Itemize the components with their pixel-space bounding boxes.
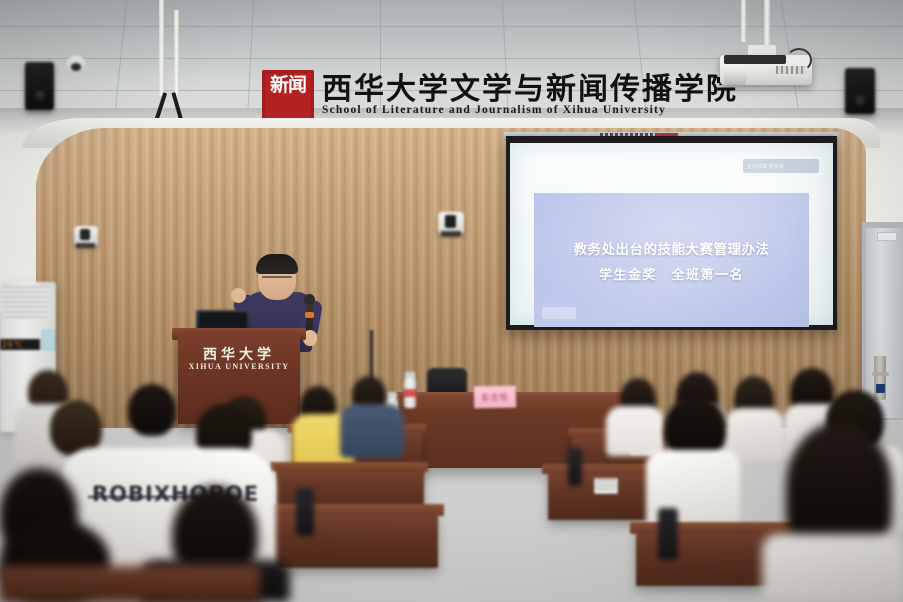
audience-torso-r1-8 — [726, 408, 784, 460]
podium-english-label: XIHUA UNIVERSITY — [178, 362, 300, 371]
name-card: 彭志恒 — [474, 386, 516, 409]
audience-head-r1-2 — [128, 384, 176, 436]
projector-mount-pole-secondary — [741, 0, 746, 42]
presenter-hair — [256, 254, 298, 274]
wall-speaker-right — [845, 68, 875, 114]
projector-cable — [786, 48, 812, 72]
ceiling-hanger-pole-2 — [174, 10, 179, 98]
microphone-head — [304, 294, 315, 305]
signage-chinese-title: 西华大学文学与新闻传播学院 — [322, 64, 672, 108]
seal-glyphs: 新闻 — [265, 73, 311, 95]
ac-display-value: 26℃ — [0, 340, 24, 349]
chair-back-row3-b — [658, 508, 678, 560]
presenter-glasses — [262, 276, 292, 285]
projector-top-mount — [724, 55, 786, 64]
water-bottle-1 — [404, 378, 416, 408]
podium-chinese-label: 西华大学 — [178, 344, 300, 364]
audience-torso-r1-5 — [340, 404, 404, 458]
wall-ptz-camera-icon — [438, 212, 464, 234]
chair-back-row3-a — [296, 488, 314, 536]
presenter-raised-fist — [231, 288, 246, 303]
seal-icon: 新闻 — [262, 70, 314, 122]
name-card-text: 彭志恒 — [481, 391, 508, 402]
slide-chip-label: 正在共享 麦克风 — [747, 163, 784, 170]
wall-speaker-left — [25, 62, 54, 110]
foreground-torso-right — [762, 534, 903, 602]
projector-lens — [724, 72, 746, 85]
wall-camera-left-icon — [74, 226, 98, 246]
door-sign-plate — [877, 232, 897, 241]
lecture-hall-photo: 新闻 西华大学文学与新闻传播学院 School of Literature an… — [0, 0, 903, 602]
seat-label-3 — [594, 478, 618, 494]
ac-vents — [2, 286, 50, 320]
dome-security-camera-icon — [66, 56, 86, 72]
foreground-desk — [0, 566, 260, 602]
slide-corner-tag — [542, 307, 576, 319]
ac-display: 26℃ — [0, 339, 40, 350]
slide-status-chip: 正在共享 麦克风 — [743, 159, 819, 173]
door-card-reader-icon[interactable] — [876, 384, 885, 393]
slide-heading-line-2: 学生金奖 全班第一名 — [599, 264, 744, 283]
door-lock[interactable] — [874, 356, 886, 400]
projector-mount-pole — [764, 0, 770, 50]
projection-screen: 正在共享 麦克风 教务处出台的技能大赛管理办法 学生金奖 全班第一名 — [510, 143, 833, 325]
ac-label-sticker — [42, 330, 56, 350]
audience-torso-r1-6 — [606, 406, 664, 456]
signage-english-title: School of Literature and Journalism of X… — [322, 104, 672, 116]
foreground-head-right — [786, 422, 892, 552]
ceiling-hanger-pole-1 — [159, 0, 164, 96]
chair-back-row2-a — [568, 448, 582, 486]
desk-top-row2-left — [270, 462, 428, 472]
door-handle[interactable] — [872, 372, 889, 376]
slide-content-panel: 教务处出台的技能大赛管理办法 学生金奖 全班第一名 — [534, 193, 809, 327]
slide-heading-line-1: 教务处出台的技能大赛管理办法 — [574, 238, 770, 258]
microphone-orange-band — [305, 312, 314, 318]
